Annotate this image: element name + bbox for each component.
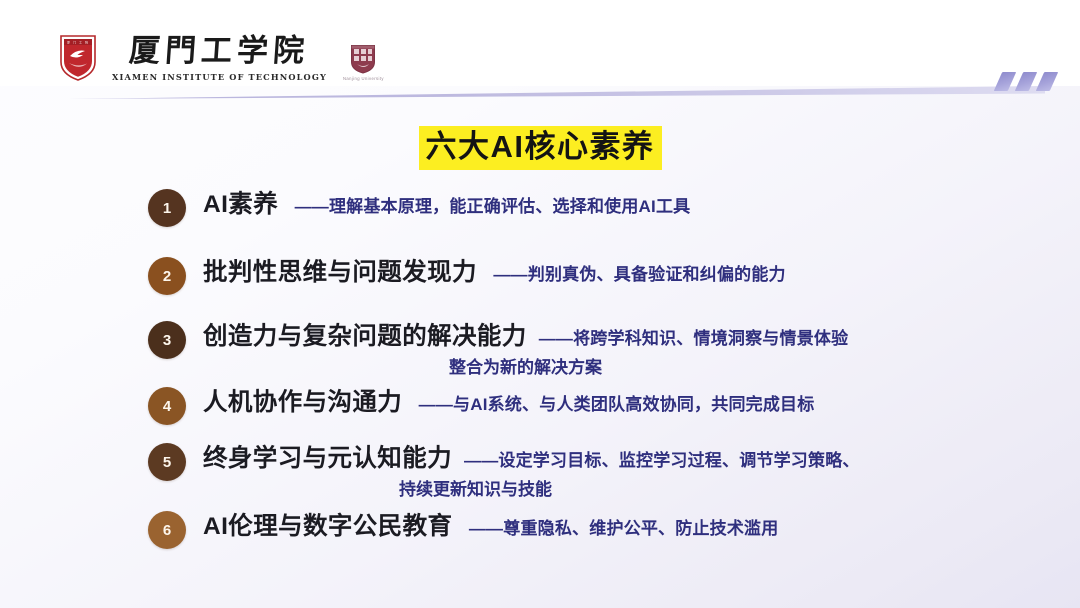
accent-bar (994, 72, 1016, 91)
shield-crest-icon: 厦门 工院 (58, 32, 98, 82)
header-divider (45, 86, 1045, 99)
list-item-text: 人机协作与沟通力 ——与AI系统、与人类团队高效协同，共同完成目标 (203, 387, 814, 418)
list-item-description-line2: 整合为新的解决方案 (203, 357, 848, 379)
list-item-description: ——理解基本原理，能正确评估、选择和使用AI工具 (295, 196, 691, 218)
list-item-title: 创造力与复杂问题的解决能力 (203, 323, 527, 350)
diagonal-accent-bars-icon (998, 72, 1054, 91)
item-number-badge: 3 (148, 321, 186, 359)
list-item-text: AI素养 ——理解基本原理，能正确评估、选择和使用AI工具 (203, 189, 690, 220)
list-item: 2 批判性思维与问题发现力 ——判别真伪、具备验证和纠偏的能力 (148, 257, 786, 295)
partner-shield-crest-icon: Nanjing University (343, 44, 384, 81)
slide-header: 厦门 工院 厦門工学院 XIAMEN INSTITUTE OF TECHNOLO… (0, 0, 1080, 106)
list-item-title: AI素养 (203, 190, 278, 220)
slide-title: 六大AI核心素养 (419, 126, 662, 170)
list-item-text: 终身学习与元认知能力——设定学习目标、监控学习过程、调节学习策略、 持续更新知识… (203, 443, 860, 501)
list-item-title: 终身学习与元认知能力 (203, 445, 452, 472)
svg-text:厦: 厦 (67, 40, 70, 45)
item-number-badge: 1 (148, 189, 186, 227)
item-number-badge: 4 (148, 387, 186, 425)
list-item: 3 创造力与复杂问题的解决能力——将跨学科知识、情境洞察与情景体验 整合为新的解… (148, 321, 848, 379)
item-number-badge: 5 (148, 443, 186, 481)
item-number-badge: 6 (148, 511, 186, 549)
presentation-slide: 厦门 工院 厦門工学院 XIAMEN INSTITUTE OF TECHNOLO… (0, 0, 1080, 608)
institution-name-cn: 厦門工学院 (128, 36, 310, 67)
list-item-description: ——将跨学科知识、情境洞察与情景体验 (539, 329, 849, 348)
list-item: 5 终身学习与元认知能力——设定学习目标、监控学习过程、调节学习策略、 持续更新… (148, 443, 860, 501)
institution-logo: 厦门 工院 厦門工学院 XIAMEN INSTITUTE OF TECHNOLO… (58, 30, 384, 82)
list-item-description: ——判别真伪、具备验证和纠偏的能力 (493, 264, 785, 286)
list-item: 1 AI素养 ——理解基本原理，能正确评估、选择和使用AI工具 (148, 189, 690, 227)
list-item-text: 批判性思维与问题发现力 ——判别真伪、具备验证和纠偏的能力 (203, 257, 786, 288)
accent-bar (1015, 72, 1037, 91)
list-item-description: ——尊重隐私、维护公平、防止技术滥用 (469, 518, 779, 540)
list-item-title: 批判性思维与问题发现力 (203, 258, 477, 288)
slide-title-container: 六大AI核心素养 (0, 126, 1080, 170)
svg-text:工: 工 (79, 41, 82, 45)
list-item: 4 人机协作与沟通力 ——与AI系统、与人类团队高效协同，共同完成目标 (148, 387, 814, 425)
partner-caption: Nanjing University (343, 76, 384, 81)
svg-text:院: 院 (85, 40, 88, 45)
list-item-description: ——与AI系统、与人类团队高效协同，共同完成目标 (419, 394, 815, 416)
list-item: 6 AI伦理与数字公民教育 ——尊重隐私、维护公平、防止技术滥用 (148, 511, 778, 549)
item-number-badge: 2 (148, 257, 186, 295)
list-item-title: 人机协作与沟通力 (203, 388, 402, 418)
svg-text:门: 门 (73, 40, 76, 45)
list-item-text: 创造力与复杂问题的解决能力——将跨学科知识、情境洞察与情景体验 整合为新的解决方… (203, 321, 848, 379)
list-item-description-line2: 持续更新知识与技能 (203, 479, 860, 501)
list-item-text: AI伦理与数字公民教育 ——尊重隐私、维护公平、防止技术滥用 (203, 511, 778, 542)
list-item-description: ——设定学习目标、监控学习过程、调节学习策略、 (464, 451, 860, 470)
institution-name-en: XIAMEN INSTITUTE OF TECHNOLOGY (112, 72, 327, 82)
institution-name-block: 厦門工学院 XIAMEN INSTITUTE OF TECHNOLOGY (112, 36, 327, 82)
list-item-title: AI伦理与数字公民教育 (203, 512, 452, 542)
